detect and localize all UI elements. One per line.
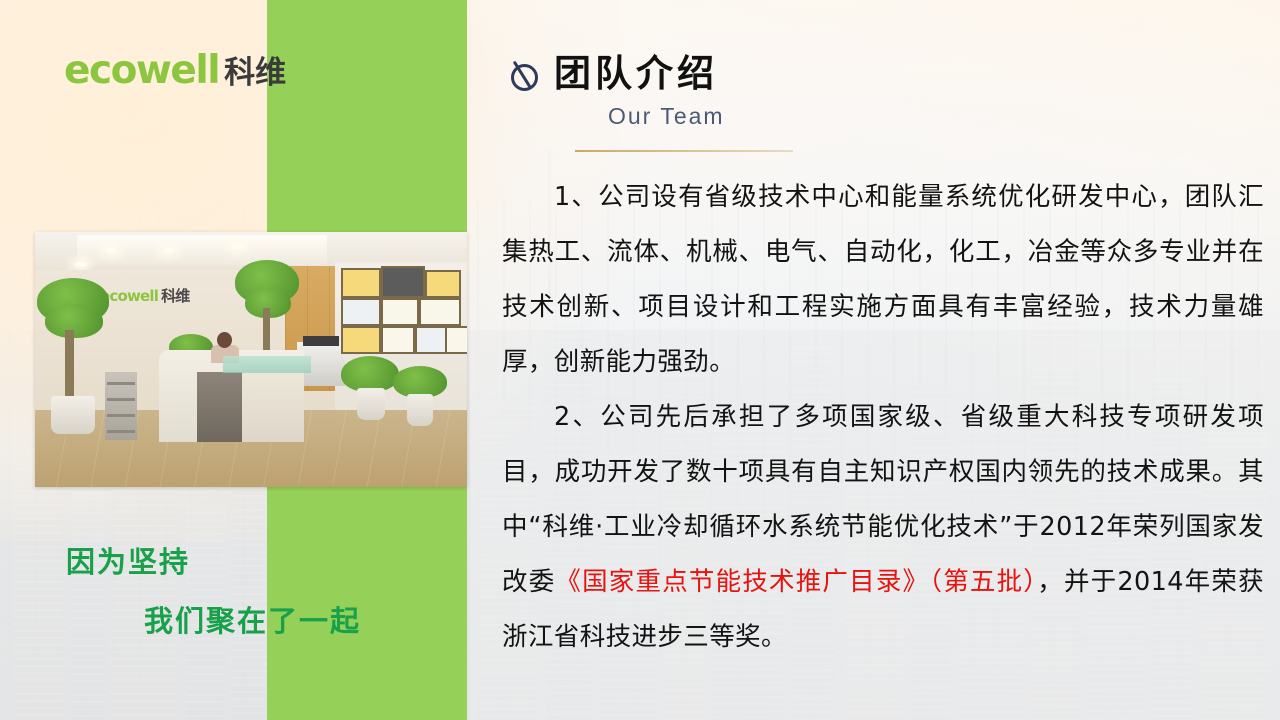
page-title: 团队介绍 <box>554 55 718 94</box>
title-divider <box>575 150 793 152</box>
paragraph-2-highlight: 《国家重点节能技术推广目录》（第五批） <box>555 567 1037 597</box>
content-panel: 团队介绍 Our Team 1、公司设有省级技术中心和能量系统优化研发中心，团队… <box>470 0 1280 720</box>
photo-frame <box>381 326 415 354</box>
photo-frame <box>341 326 381 354</box>
paragraph-1-text: 公司设有省级技术中心和能量系统优化研发中心，团队汇集热工、流体、机械、电气、自动… <box>502 182 1264 377</box>
photo-certificate-frames <box>341 268 461 352</box>
photo-printer-top <box>303 336 339 346</box>
photo-frame <box>425 270 461 298</box>
photo-frame <box>341 268 381 298</box>
company-logo: ecowell 科维 <box>64 47 286 93</box>
slide-root: ecowell 科维 ecowell科维 <box>0 0 1280 720</box>
photo-desk-panel <box>197 372 242 442</box>
photo-light <box>105 248 117 253</box>
office-photo: ecowell科维 <box>35 232 467 487</box>
photo-shelf <box>105 372 137 440</box>
photo-frame <box>381 298 419 326</box>
header-block: 团队介绍 Our Team <box>508 55 725 130</box>
photo-light <box>163 248 175 253</box>
photo-plant-right-2 <box>393 366 447 436</box>
paragraph-2-marker: 2、 <box>554 402 600 432</box>
photo-frame <box>381 266 425 298</box>
logo-chinese-text: 科维 <box>224 47 286 92</box>
slogan-line-1: 因为坚持 <box>66 548 466 577</box>
paragraph-1-marker: 1、 <box>554 182 598 212</box>
photo-receptionist-head <box>217 332 232 348</box>
photo-plant-right-1 <box>341 356 399 430</box>
slogan-line-2: 我们聚在了一起 <box>144 607 466 636</box>
photo-frame <box>415 326 447 354</box>
photo-wall-logo-cn: 科维 <box>161 287 189 305</box>
photo-light <box>231 244 243 249</box>
slogan-block: 因为坚持 我们聚在了一起 <box>66 548 466 636</box>
photo-desk-glass <box>223 356 311 373</box>
photo-desk-right <box>242 362 304 442</box>
photo-plant-left <box>37 278 111 438</box>
page-subtitle: Our Team <box>608 103 725 130</box>
circle-slash-icon <box>508 59 538 89</box>
paragraph-1: 1、公司设有省级技术中心和能量系统优化研发中心，团队汇集热工、流体、机械、电气、… <box>502 170 1264 390</box>
logo-latin-text: ecowell <box>64 48 219 93</box>
body-text: 1、公司设有省级技术中心和能量系统优化研发中心，团队汇集热工、流体、机械、电气、… <box>502 170 1264 665</box>
photo-frame <box>419 298 461 326</box>
photo-frame <box>341 298 381 326</box>
photo-light <box>75 262 87 267</box>
paragraph-2: 2、公司先后承担了多项国家级、省级重大科技专项研发项目，成功开发了数十项具有自主… <box>502 390 1264 665</box>
photo-frame <box>445 326 467 354</box>
